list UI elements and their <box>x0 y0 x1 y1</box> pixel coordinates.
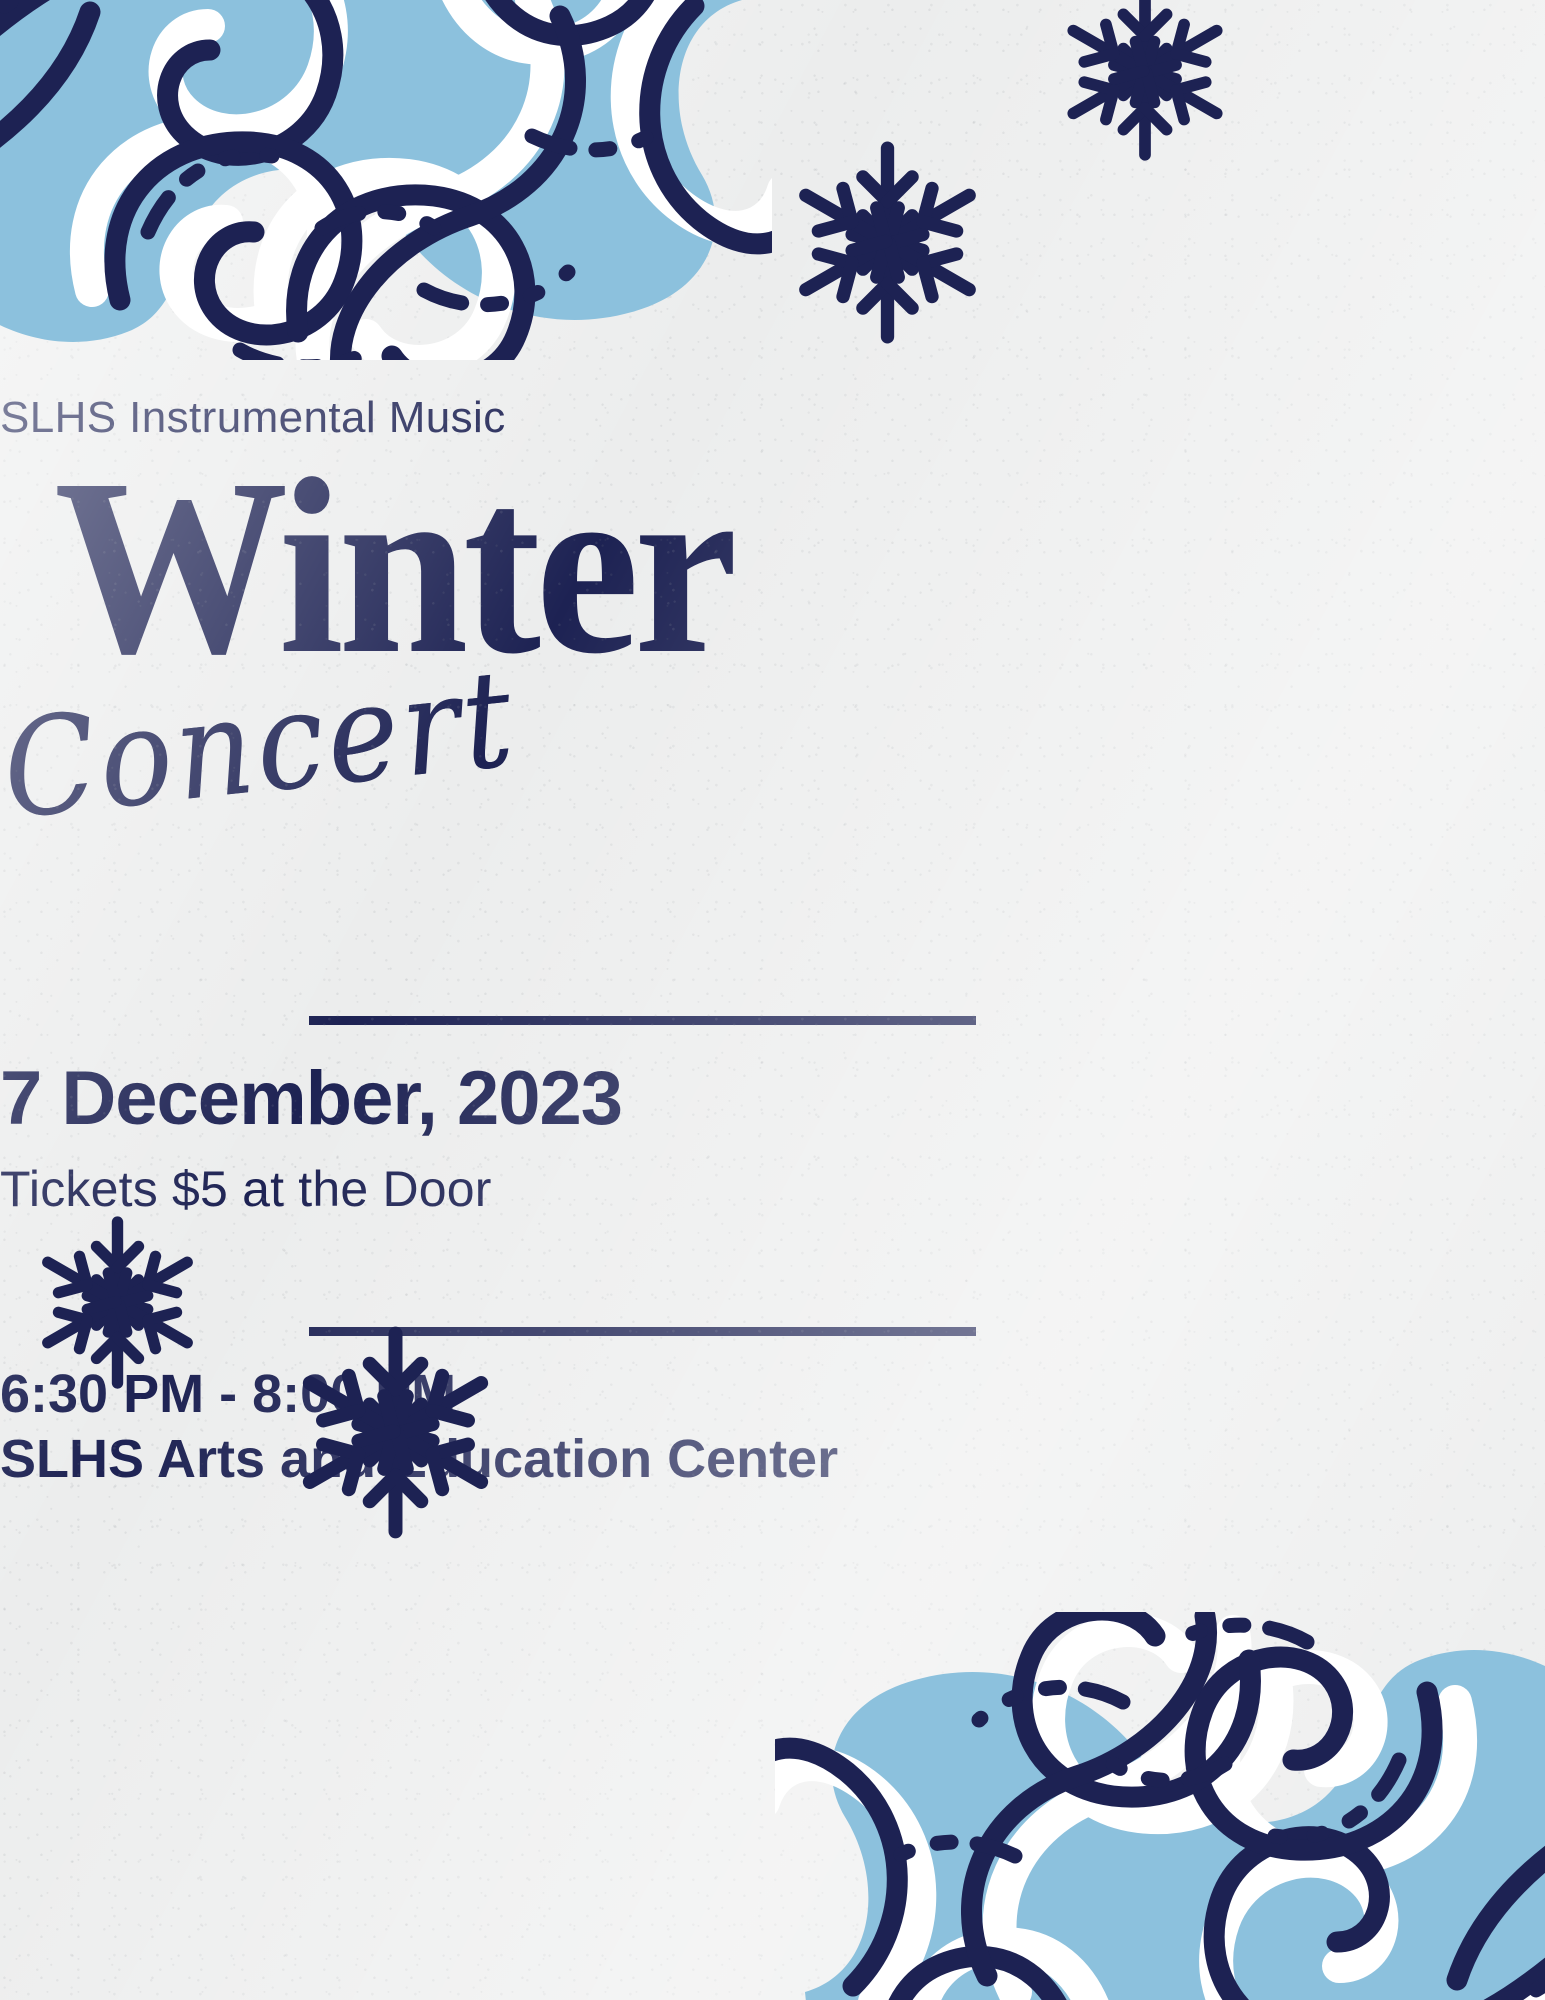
event-time: 6:30 PM - 8:00 PM <box>0 1363 1545 1425</box>
wave-swirl-icon-bottom-right <box>775 1612 1545 2000</box>
snowflake-icon-bottom-center <box>288 1325 503 1540</box>
wave-swirl-icon-top-left <box>0 0 772 360</box>
poster-title-block: Winter Concert <box>0 440 1545 820</box>
snowflake-icon-top-center <box>785 140 990 345</box>
divider-top <box>309 1016 976 1025</box>
winter-concert-poster: SLHS Instrumental Music Winter Concert 7… <box>0 0 1545 2000</box>
snowflake-icon-bottom-left <box>30 1215 205 1390</box>
event-venue: SLHS Arts and Education Center <box>0 1428 1545 1490</box>
event-date: 7 December, 2023 <box>0 1055 1545 1142</box>
ticket-price: Tickets $5 at the Door <box>0 1160 1545 1218</box>
snowflake-icon-top-right <box>1055 0 1235 162</box>
